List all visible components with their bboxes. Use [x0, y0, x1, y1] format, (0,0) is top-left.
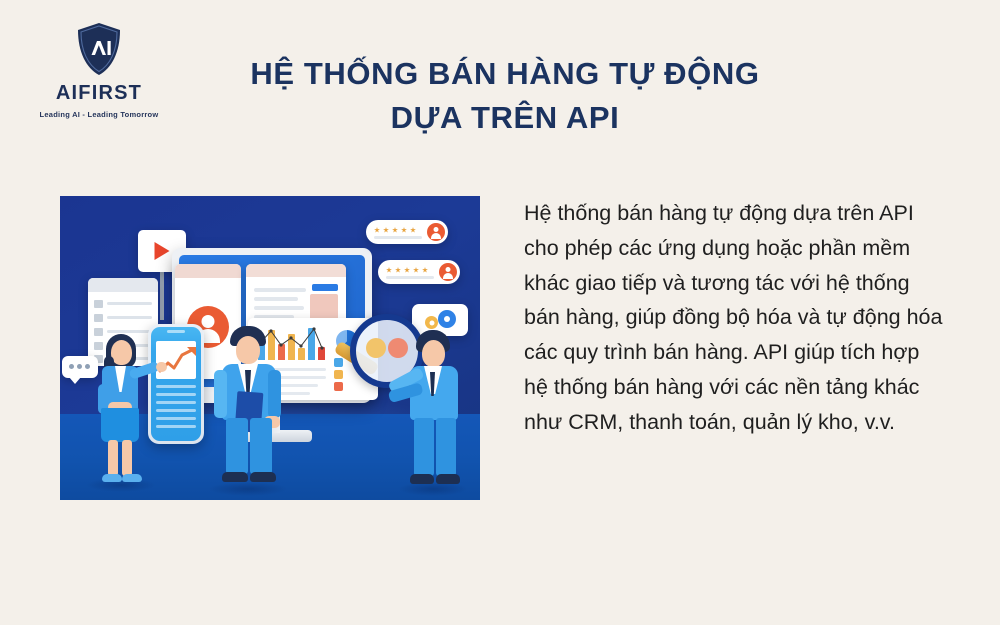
- brand-logo: AIFIRST Leading AI - Leading Tomorrow: [24, 22, 174, 119]
- avatar-head: [434, 227, 439, 232]
- avatar-card-band: [175, 264, 241, 278]
- gear-hole: [444, 316, 450, 322]
- review-avatar-icon: [427, 223, 445, 241]
- body-paragraph: Hệ thống bán hàng tự động dựa trên API c…: [524, 196, 944, 440]
- person-leg: [226, 418, 248, 474]
- play-icon: [155, 242, 170, 260]
- page-card-accent: [312, 284, 338, 291]
- page-title: HỆ THỐNG BÁN HÀNG TỰ ĐỘNG DỰA TRÊN API: [185, 52, 825, 140]
- gear-icon: [438, 310, 456, 328]
- person-shoe: [102, 474, 122, 482]
- review-card-1: [366, 220, 448, 244]
- review-line: [374, 236, 422, 239]
- chat-dot-icon: [69, 364, 74, 369]
- person-skirt: [101, 408, 139, 442]
- doclist-checkbox: [94, 314, 103, 322]
- star-icon: [386, 267, 392, 273]
- doclist-line: [107, 316, 152, 319]
- hero-illustration: [60, 196, 480, 500]
- person-leg: [250, 418, 272, 474]
- phone-notch: [167, 330, 185, 333]
- person-hand-right: [156, 362, 167, 372]
- person-leg: [122, 440, 132, 476]
- page-card-line: [254, 288, 306, 292]
- avatar-body: [431, 233, 441, 239]
- avatar-head: [446, 267, 451, 272]
- legend-swatch: [334, 358, 343, 367]
- avatar-body: [443, 273, 453, 279]
- woman-presenter: [84, 332, 160, 484]
- star-icon: [383, 227, 389, 233]
- page-card-line: [254, 297, 298, 301]
- star-icon: [413, 267, 419, 273]
- connector-stem: [160, 272, 164, 320]
- man-center: [206, 326, 292, 488]
- gear-hole: [429, 320, 434, 325]
- person-shoe: [410, 474, 434, 484]
- review-avatar-icon: [439, 263, 457, 281]
- review-card-2: [378, 260, 460, 284]
- doclist-header: [88, 278, 158, 292]
- person-arm-left: [214, 370, 227, 418]
- person-arm-right: [268, 370, 281, 418]
- page-card-line: [254, 306, 304, 310]
- brand-wordmark: AIFIRST: [24, 82, 174, 105]
- page-title-line-2: DỰA TRÊN API: [185, 96, 825, 140]
- review-line: [386, 276, 434, 279]
- person-leg: [108, 440, 118, 476]
- gear-icon: [425, 316, 438, 329]
- star-icon: [401, 227, 407, 233]
- star-icon: [374, 227, 380, 233]
- star-icon: [392, 227, 398, 233]
- person-shoe: [222, 472, 248, 482]
- magnified-circle-yellow: [366, 338, 386, 358]
- doclist-checkbox: [94, 300, 103, 308]
- person-shoe: [250, 472, 276, 482]
- star-icon: [410, 227, 416, 233]
- page-title-line-1: HỆ THỐNG BÁN HÀNG TỰ ĐỘNG: [185, 52, 825, 96]
- person-leg: [414, 418, 434, 476]
- phone-trend-chart: [156, 341, 196, 379]
- brand-tagline: Leading AI - Leading Tomorrow: [24, 110, 174, 119]
- star-icon: [395, 267, 401, 273]
- chat-dot-icon: [77, 364, 82, 369]
- person-head: [111, 340, 132, 365]
- doclist-line: [107, 302, 152, 305]
- man-with-magnifier: [396, 330, 472, 488]
- person-head: [422, 340, 445, 367]
- person-leg: [436, 418, 456, 476]
- legend-swatch: [334, 382, 343, 391]
- person-shoe: [436, 474, 460, 484]
- person-head: [236, 336, 260, 364]
- shield-icon: [76, 22, 122, 76]
- star-icon: [404, 267, 410, 273]
- legend-swatch: [334, 370, 343, 379]
- star-icon: [422, 267, 428, 273]
- page-card-band: [246, 264, 346, 277]
- person-shoe: [122, 474, 142, 482]
